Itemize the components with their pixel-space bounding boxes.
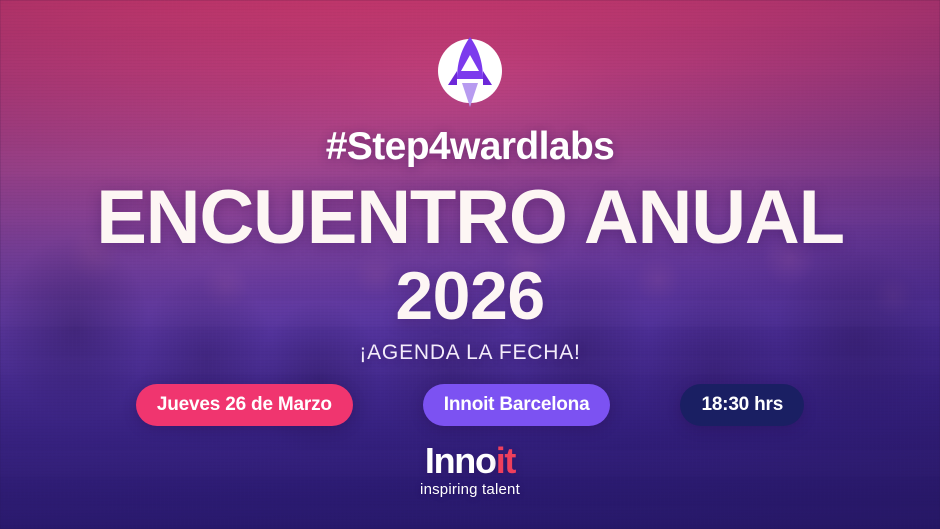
event-time-badge: 18:30 hrs bbox=[680, 384, 804, 426]
event-details-row: Jueves 26 de Marzo Innoit Barcelona 18:3… bbox=[136, 384, 804, 426]
logo-word-accent: it bbox=[496, 440, 515, 481]
rocket-icon bbox=[428, 27, 512, 111]
hashtag: #Step4wardlabs bbox=[326, 127, 615, 166]
logo-wordmark: Innoit bbox=[420, 443, 520, 479]
logo-word-primary: Inno bbox=[425, 440, 496, 481]
page-title: ENCUENTRO ANUAL bbox=[96, 180, 844, 256]
logo-tagline: inspiring talent bbox=[420, 482, 520, 497]
save-the-date-subtitle: ¡AGENDA LA FECHA! bbox=[359, 342, 580, 363]
event-year: 2026 bbox=[395, 262, 544, 330]
event-venue-badge: Innoit Barcelona bbox=[423, 384, 611, 426]
poster-content: #Step4wardlabs ENCUENTRO ANUAL 2026 ¡AGE… bbox=[0, 0, 940, 529]
innoit-logo: Innoit inspiring talent bbox=[420, 443, 520, 497]
event-date-badge: Jueves 26 de Marzo bbox=[136, 384, 353, 426]
event-poster: #Step4wardlabs ENCUENTRO ANUAL 2026 ¡AGE… bbox=[0, 0, 940, 529]
